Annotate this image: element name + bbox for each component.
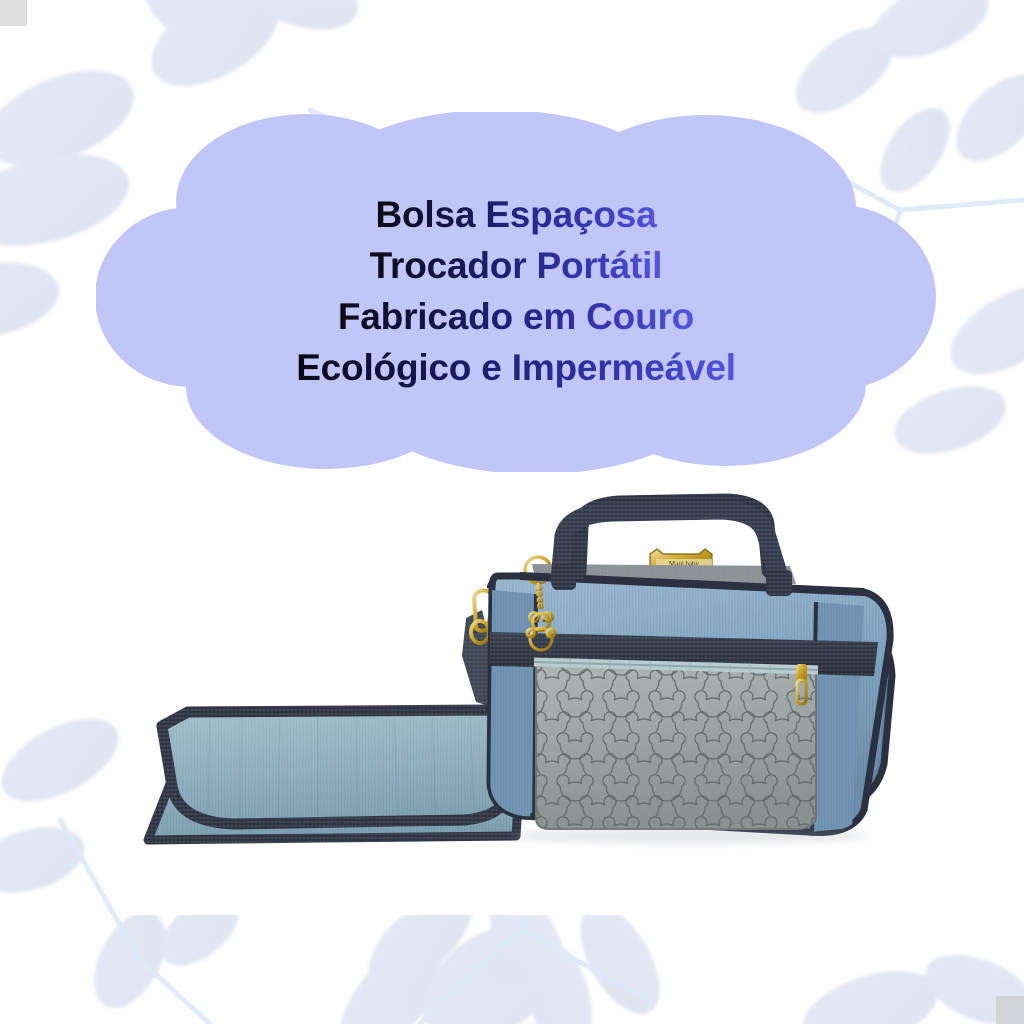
poster-canvas: Bolsa Espaçosa Trocador Portátil Fabrica…: [0, 0, 1024, 1024]
changing-pad-graphic: [148, 710, 522, 840]
cloud-shape: [96, 112, 936, 472]
cloud-callout: Bolsa Espaçosa Trocador Portátil Fabrica…: [96, 112, 936, 472]
product-photo: Maré baby: [130, 480, 1024, 915]
corner-marker-top-left: [0, 0, 27, 26]
corner-marker-bottom-right: [996, 996, 1024, 1024]
product-photo-panel: Maré baby: [130, 480, 1024, 915]
quilted-front-pocket: [530, 660, 830, 840]
